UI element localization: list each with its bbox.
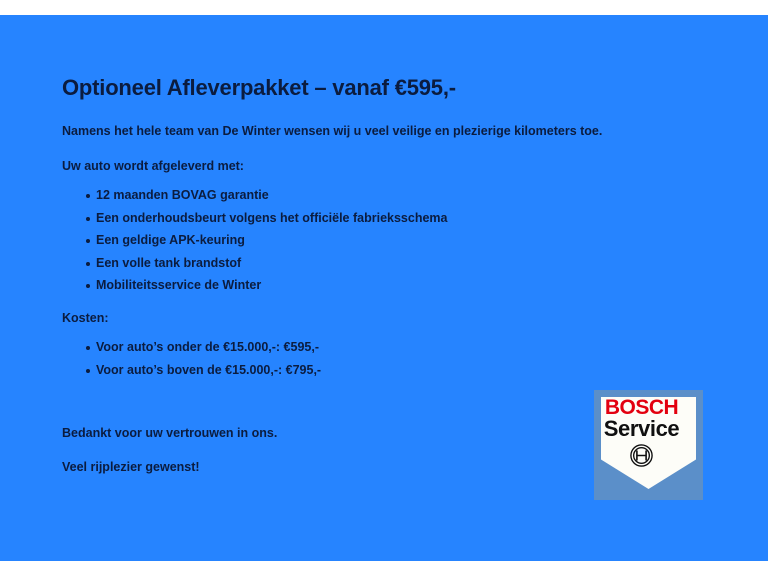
- bosch-service-logo: BOSCH Service: [594, 390, 703, 500]
- list-item: Een onderhoudsbeurt volgens het officiël…: [62, 211, 702, 227]
- list-item: Een volle tank brandstof: [62, 256, 702, 272]
- list-item: 12 maanden BOVAG garantie: [62, 188, 702, 204]
- logo-subtitle-text: Service: [594, 418, 689, 440]
- list-item: Voor auto’s boven de €15.000,-: €795,-: [62, 363, 702, 379]
- list-item: Mobiliteitsservice de Winter: [62, 278, 702, 294]
- list-item: Voor auto’s onder de €15.000,-: €595,-: [62, 340, 702, 356]
- bosch-armature-emblem-icon: [630, 444, 653, 467]
- slide-canvas: Optioneel Afleverpakket – vanaf €595,- N…: [0, 15, 768, 561]
- delivery-label: Uw auto wordt afgeleverd met:: [62, 158, 702, 174]
- delivery-list: 12 maanden BOVAG garantie Een onderhouds…: [62, 188, 702, 294]
- costs-label: Kosten:: [62, 310, 702, 326]
- costs-list: Voor auto’s onder de €15.000,-: €595,- V…: [62, 340, 702, 378]
- list-item: Een geldige APK-keuring: [62, 233, 702, 249]
- intro-paragraph: Namens het hele team van De Winter wense…: [62, 123, 702, 139]
- logo-brand-text: BOSCH: [594, 397, 689, 418]
- page-title: Optioneel Afleverpakket – vanaf €595,-: [62, 75, 702, 101]
